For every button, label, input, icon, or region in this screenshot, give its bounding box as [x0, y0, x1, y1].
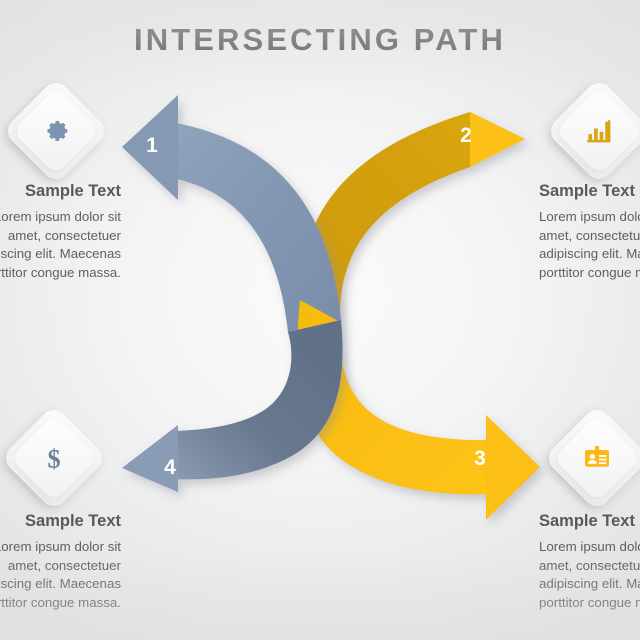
step-heading-1: Sample Text [0, 182, 121, 201]
step-heading-2: Sample Text [539, 182, 640, 201]
step-number-4: 4 [164, 456, 176, 479]
dollar-sign-icon: $ [39, 443, 69, 473]
step-text-block-2: Sample Text Lorem ipsum dolor sit amet, … [539, 182, 640, 282]
step-text-block-3: Sample Text Lorem ipsum dolor sit amet, … [539, 512, 640, 612]
slide-canvas: INTERSECTING PATH [0, 0, 640, 640]
step-body-1: Lorem ipsum dolor sit amet, consectetuer… [0, 208, 121, 282]
step-body-2: Lorem ipsum dolor sit amet, consectetuer… [539, 208, 640, 282]
ribbon-blue-upper [122, 95, 341, 332]
step-text-block-4: Sample Text Lorem ipsum dolor sit amet, … [0, 512, 121, 612]
step-number-1: 1 [146, 134, 158, 157]
step-icon-badge-3[interactable] [553, 414, 640, 502]
step-number-3: 3 [474, 447, 486, 470]
step-body-3: Lorem ipsum dolor sit amet, consectetuer… [539, 538, 640, 612]
gear-icon [41, 116, 71, 146]
step-number-2: 2 [460, 124, 472, 147]
step-heading-4: Sample Text [0, 512, 121, 531]
id-badge-icon [582, 443, 612, 473]
step-icon-badge-2[interactable] [555, 87, 640, 175]
svg-text:$: $ [47, 444, 60, 473]
bar-chart-icon [584, 116, 614, 146]
step-icon-badge-1[interactable] [12, 87, 100, 175]
ribbon-blue-lower [122, 320, 342, 492]
step-text-block-1: Sample Text Lorem ipsum dolor sit amet, … [0, 182, 121, 282]
step-icon-badge-4[interactable]: $ [10, 414, 98, 502]
step-body-4: Lorem ipsum dolor sit amet, consectetuer… [0, 538, 121, 612]
step-heading-3: Sample Text [539, 512, 640, 531]
